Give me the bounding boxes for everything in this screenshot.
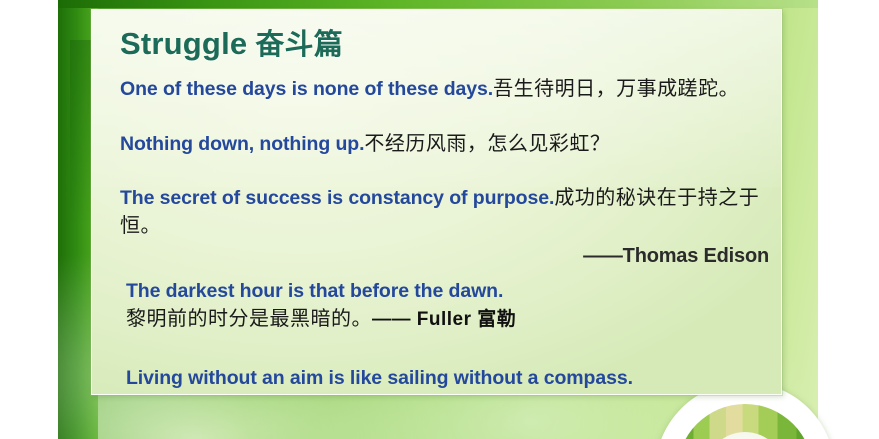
quote-english: Nothing down, nothing up. [120,133,364,155]
panel-content: Struggle奋斗篇 One of these days is none of… [92,21,781,395]
quote-english: One of these days is none of these days. [120,78,493,100]
quote-chinese: 黎明前的时分是最黑暗的。 [126,306,372,330]
quote-chinese: 生活而无目标，犹如航海之无指南针。 [126,393,475,395]
quote-item: The darkest hour is that before the dawn… [120,278,771,333]
quote-attribution: —— Fuller 富勒 [372,309,516,330]
quote-item: The secret of success is constancy of pu… [120,184,771,268]
quote-line: One of these days is none of these days.… [120,75,771,103]
slide-background-top-band [58,0,818,8]
quote-chinese: 吾生待明日，万事成蹉跎。 [493,76,739,100]
quote-line: The secret of success is constancy of pu… [120,184,771,240]
page-title-english: Struggle [120,26,247,61]
content-panel: Struggle奋斗篇 One of these days is none of… [91,9,782,395]
quote-line: 黎明前的时分是最黑暗的。—— Fuller 富勒 [126,305,771,333]
quote-list: One of these days is none of these days.… [120,75,771,395]
slide-canvas: Struggle奋斗篇 One of these days is none of… [0,0,879,439]
quote-english: Living without an aim is like sailing wi… [126,365,771,392]
quote-item: Living without an aim is like sailing wi… [120,365,771,395]
quote-english: The darkest hour is that before the dawn… [126,278,771,305]
quote-item: One of these days is none of these days.… [120,75,771,103]
quote-item: Nothing down, nothing up.不经历风雨，怎么见彩虹？ [120,130,771,158]
quote-english: The secret of success is constancy of pu… [120,187,554,209]
quote-line: 生活而无目标，犹如航海之无指南针。—— J. Ruskin 鲁斯金 [126,392,771,395]
quote-line: Nothing down, nothing up.不经历风雨，怎么见彩虹？ [120,130,771,158]
quote-chinese: 不经历风雨，怎么见彩虹？ [364,131,610,155]
quote-attribution: ——Thomas Edison [120,245,771,268]
page-title: Struggle奋斗篇 [120,21,771,63]
page-title-chinese: 奋斗篇 [255,27,343,61]
